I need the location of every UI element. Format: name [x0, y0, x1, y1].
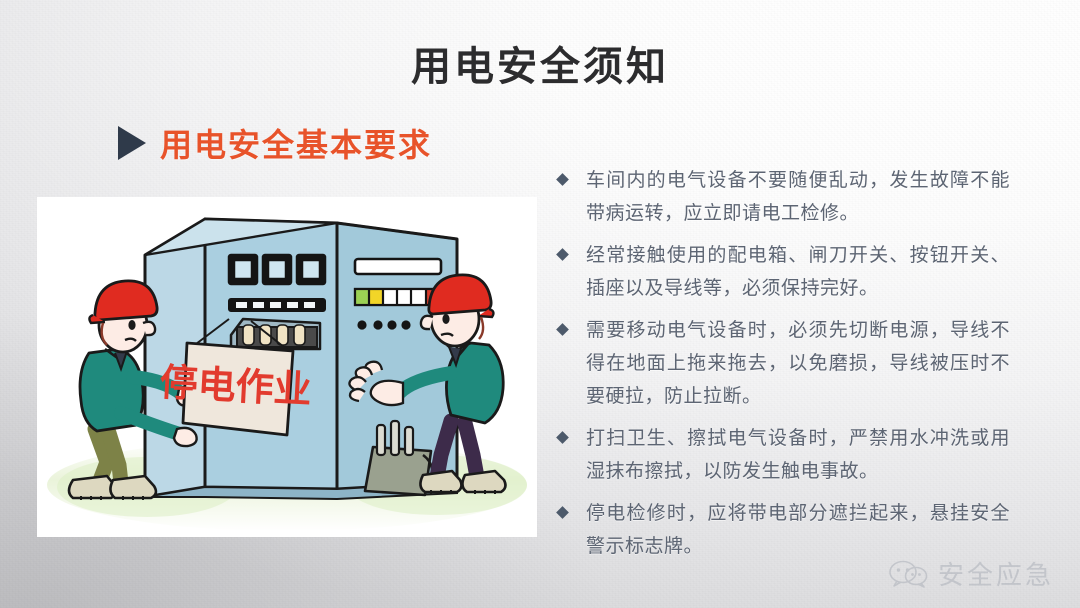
sign-text: 停电作业	[159, 360, 313, 412]
diamond-bullet-icon	[556, 431, 569, 444]
list-item-text: 车间内的电气设备不要随便乱动，发生故障不能带病运转，应立即请电工检修。	[586, 164, 1010, 230]
section-heading-label: 用电安全基本要求	[160, 120, 432, 166]
list-item-text: 打扫卫生、擦拭电气设备时，严禁用水冲洗或用湿抹布擦拭，以防发生触电事故。	[586, 422, 1010, 488]
slide-canvas: 用电安全须知 用电安全基本要求	[0, 0, 1080, 608]
list-item-text: 经常接触使用的配电箱、闸刀开关、按钮开关、插座以及导线等，必须保持完好。	[586, 239, 1010, 305]
list-item: 停电检修时，应将带电部分遮拦起来，悬挂安全警示标志牌。	[558, 497, 1010, 563]
list-item: 车间内的电气设备不要随便乱动，发生故障不能带病运转，应立即请电工检修。	[558, 164, 1010, 230]
watermark-label: 安全应急	[938, 555, 1054, 592]
diamond-bullet-icon	[556, 173, 569, 186]
wechat-icon	[888, 560, 928, 588]
list-item-text: 停电检修时，应将带电部分遮拦起来，悬挂安全警示标志牌。	[586, 497, 1010, 563]
triangle-right-icon	[118, 126, 146, 160]
safety-illustration: 停电作业	[37, 197, 537, 537]
list-item-text: 需要移动电气设备时，必须先切断电源，导线不得在地面上拖来拖去，以免磨损，导线被压…	[586, 314, 1010, 413]
watermark: 安全应急	[888, 555, 1054, 592]
list-item: 打扫卫生、擦拭电气设备时，严禁用水冲洗或用湿抹布擦拭，以防发生触电事故。	[558, 422, 1010, 488]
diamond-bullet-icon	[556, 248, 569, 261]
requirements-list: 车间内的电气设备不要随便乱动，发生故障不能带病运转，应立即请电工检修。 经常接触…	[558, 164, 1010, 572]
page-title: 用电安全须知	[0, 34, 1080, 92]
diamond-bullet-icon	[556, 323, 569, 336]
illustration-svg: 停电作业	[37, 197, 537, 537]
section-heading: 用电安全基本要求	[118, 120, 432, 166]
diamond-bullet-icon	[556, 506, 569, 519]
list-item: 经常接触使用的配电箱、闸刀开关、按钮开关、插座以及导线等，必须保持完好。	[558, 239, 1010, 305]
list-item: 需要移动电气设备时，必须先切断电源，导线不得在地面上拖来拖去，以免磨损，导线被压…	[558, 314, 1010, 413]
